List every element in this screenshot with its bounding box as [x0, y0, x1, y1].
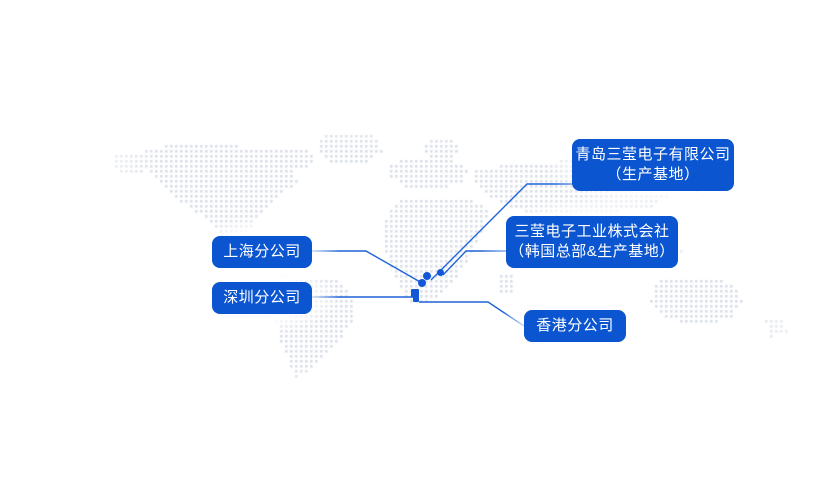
world-map-dotted	[0, 0, 824, 480]
label-korea-headquarters-line-2: （韩国总部&生产基地）	[509, 242, 675, 262]
map-infographic: 青岛三莹电子有限公司（生产基地）三莹电子工业株式会社（韩国总部&生产基地）上海分…	[0, 0, 824, 480]
label-korea-headquarters[interactable]: 三莹电子工业株式会社（韩国总部&生产基地）	[506, 216, 678, 268]
marker-shanghai[interactable]	[418, 279, 426, 287]
marker-korea[interactable]	[437, 269, 444, 276]
label-shanghai-branch[interactable]: 上海分公司	[212, 236, 312, 268]
label-korea-headquarters-line-1: 三莹电子工业株式会社	[514, 222, 669, 242]
world-map-canvas	[0, 0, 824, 480]
label-qingdao[interactable]: 青岛三莹电子有限公司（生产基地）	[572, 139, 734, 191]
label-shanghai-branch-line-1: 上海分公司	[223, 242, 301, 262]
label-shenzhen-branch[interactable]: 深圳分公司	[212, 282, 312, 314]
label-shenzhen-branch-line-1: 深圳分公司	[223, 288, 301, 308]
label-qingdao-line-2: （生产基地）	[606, 165, 699, 185]
marker-hongkong[interactable]	[413, 296, 419, 302]
label-hongkong-branch[interactable]: 香港分公司	[524, 310, 626, 342]
label-qingdao-line-1: 青岛三莹电子有限公司	[575, 145, 730, 165]
label-hongkong-branch-line-1: 香港分公司	[536, 316, 614, 336]
